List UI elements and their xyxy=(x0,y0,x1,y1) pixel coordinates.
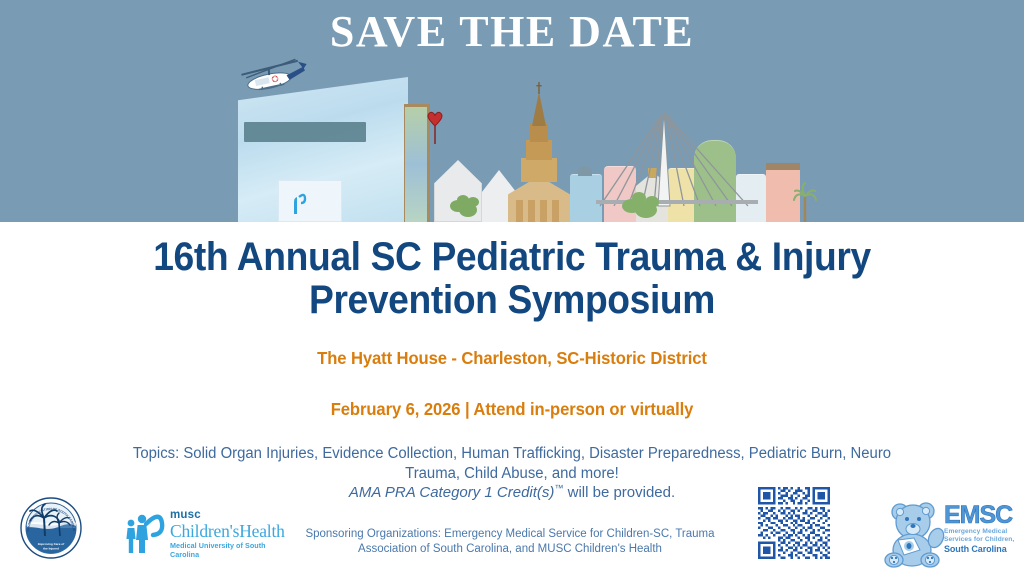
musc-wordmark: musc xyxy=(170,510,292,522)
palm-foliage-left xyxy=(448,188,482,222)
musc-university-line: Medical University of South Carolina xyxy=(170,542,292,559)
hospital-musc-mark-icon xyxy=(288,190,312,216)
emsc-line-3: South Carolina xyxy=(944,544,1018,555)
trauma-association-of-south-carolina-seal: TRAUMA ASSOCIATION OF SOUTH CAROLINA Imp… xyxy=(19,496,83,560)
steeple-cross-icon xyxy=(536,82,542,94)
cme-credit-rest: will be provided. xyxy=(563,484,675,501)
date-and-format-line: February 6, 2026 | Attend in-person or v… xyxy=(132,399,892,420)
steeple-spire xyxy=(532,92,546,126)
heart-spire-icon xyxy=(424,110,446,144)
registration-qr-code[interactable] xyxy=(758,487,830,559)
rainbow-row-cornice xyxy=(766,163,800,170)
cme-credit-italic: AMA PRA Category 1 Credit(s) xyxy=(349,484,555,501)
musc-childrens-health-logo: musc Children'sHealth Medical University… xyxy=(122,508,292,556)
emsc-line-2: Services for Children, xyxy=(944,536,1018,544)
hospital-window-band xyxy=(244,122,366,142)
topics-list: Topics: Solid Organ Injuries, Evidence C… xyxy=(126,444,898,484)
sponsoring-organizations: Sponsoring Organizations: Emergency Medi… xyxy=(300,527,720,556)
childrens-health-wordmark: Children'sHealth xyxy=(170,522,292,542)
emsc-south-carolina-logo: EMSC Emergency Medical Services for Chil… xyxy=(884,498,1016,570)
page-title: 16th Annual SC Pediatric Trauma & Injury… xyxy=(94,236,931,322)
church-columns xyxy=(514,200,564,222)
banner: SAVE THE DATE xyxy=(0,0,1024,222)
steeple-tier-2 xyxy=(526,140,552,160)
emsc-teddy-bear-icon xyxy=(884,498,948,568)
palmetto-tree-right xyxy=(792,182,818,222)
steeple-tier-3 xyxy=(530,124,548,142)
rainbow-row-cupola xyxy=(578,166,592,176)
musc-family-mark-icon xyxy=(122,508,166,554)
venue-line: The Hyatt House - Charleston, SC-Histori… xyxy=(132,348,892,369)
steeple-tier-1 xyxy=(521,158,557,182)
emsc-logo-text: EMSC Emergency Medical Services for Chil… xyxy=(944,504,1018,555)
seal-tagline-line2: the Injured xyxy=(43,547,59,551)
musc-logo-text: musc Children'sHealth Medical University… xyxy=(170,510,292,559)
seal-tagline-line1: Improving Care of xyxy=(38,542,65,546)
emsc-line-1: Emergency Medical xyxy=(944,528,1018,536)
emsc-acronym: EMSC xyxy=(944,504,1018,528)
palm-foliage-center xyxy=(620,186,662,222)
save-the-date-poster: SAVE THE DATE xyxy=(0,0,1024,576)
medical-helicopter-icon xyxy=(238,54,310,94)
charleston-watercolor-skyline xyxy=(0,42,1024,222)
